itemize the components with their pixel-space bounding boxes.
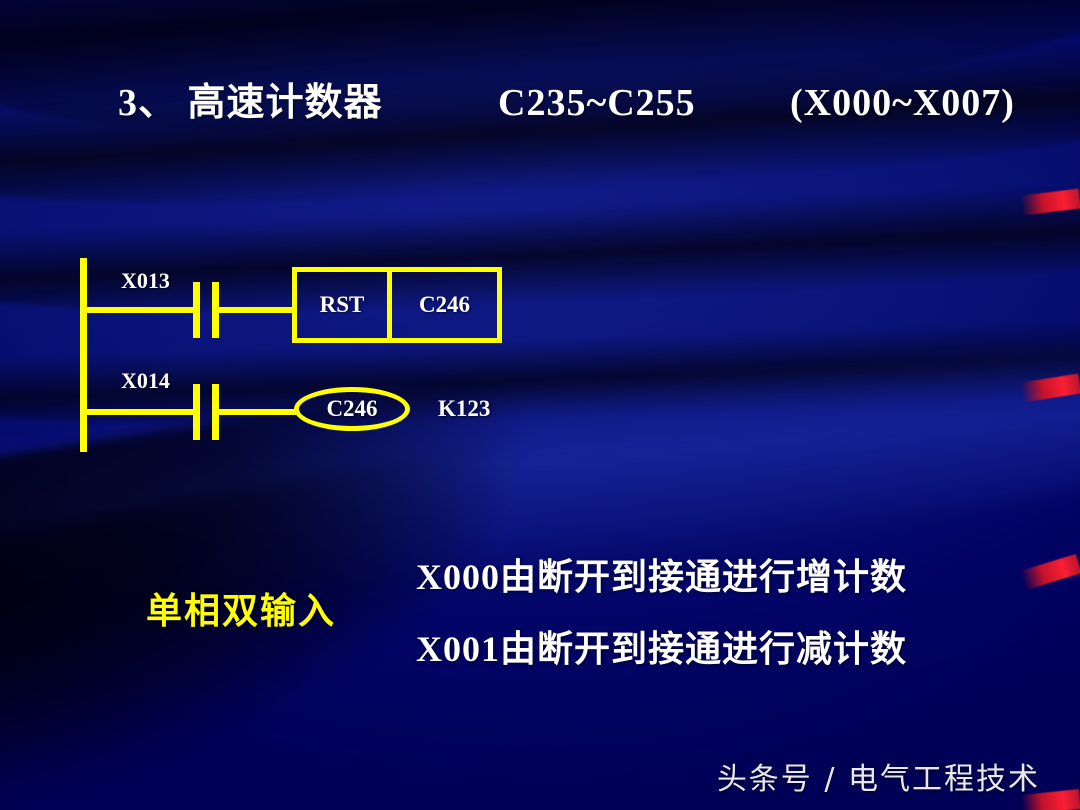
slide-title: 3、 高速计数器 C235~C255 (X000~X007) xyxy=(0,78,1080,132)
page-title-heading: 3、 高速计数器 xyxy=(118,78,383,128)
page-title-input-range: (X000~X007) xyxy=(790,78,1015,128)
presentation-slide: 3、 高速计数器 C235~C255 (X000~X007) X013 RST … xyxy=(0,0,1080,810)
counter-mode-label: 单相双输入 xyxy=(146,582,336,634)
description-line-1: X000由断开到接通进行增计数 xyxy=(416,548,907,600)
page-title-counter-range: C235~C255 xyxy=(498,78,696,128)
description-line-2: X001由断开到接通进行减计数 xyxy=(416,620,907,672)
watermark-text: 头条号 / 电气工程技术 xyxy=(717,754,1040,798)
